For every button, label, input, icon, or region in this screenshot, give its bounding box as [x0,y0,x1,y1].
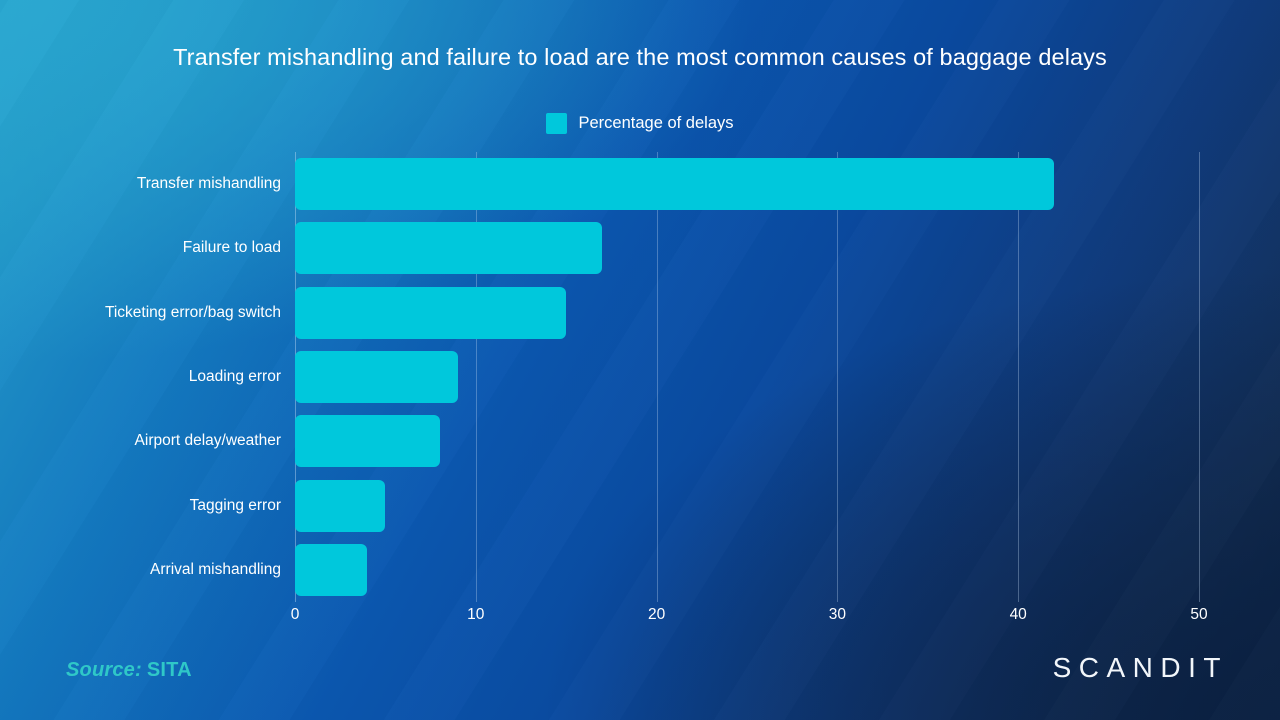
bar-row [295,409,1199,473]
chart-legend: Percentage of delays [0,113,1280,134]
x-axis-tick-label: 30 [829,606,846,624]
y-axis-label: Arrival mishandling [0,538,281,602]
chart-title: Transfer mishandling and failure to load… [0,44,1280,71]
legend-label: Percentage of delays [578,114,733,133]
source-value: SITA [147,659,192,681]
y-axis-label: Airport delay/weather [0,409,281,473]
bar[interactable] [295,287,566,339]
x-axis-tick-label: 0 [291,606,300,624]
plot-area [295,152,1199,602]
y-axis-label: Ticketing error/bag switch [0,281,281,345]
y-axis-category-labels: Transfer mishandlingFailure to loadTicke… [0,152,281,602]
x-axis-tick-labels: 01020304050 [295,606,1199,630]
bar-row [295,538,1199,602]
bar-series [295,152,1199,602]
gridline [1199,152,1200,602]
legend-color-swatch [546,113,567,134]
bar[interactable] [295,480,385,532]
bar-row [295,345,1199,409]
x-axis-tick-label: 40 [1010,606,1027,624]
bar[interactable] [295,158,1054,210]
bar-row [295,216,1199,280]
bar-row [295,152,1199,216]
x-axis-tick-label: 10 [467,606,484,624]
bar[interactable] [295,222,602,274]
bar[interactable] [295,544,367,596]
y-axis-label: Tagging error [0,473,281,537]
bar-row [295,473,1199,537]
y-axis-label: Loading error [0,345,281,409]
source-credit: Source:SITA [66,659,192,682]
y-axis-label: Transfer mishandling [0,152,281,216]
source-label: Source: [66,659,142,681]
y-axis-label: Failure to load [0,216,281,280]
bar-row [295,281,1199,345]
x-axis-tick-label: 20 [648,606,665,624]
scandit-logo-wordmark: SCANDIT [1053,652,1228,684]
bar[interactable] [295,415,440,467]
x-axis-tick-label: 50 [1190,606,1207,624]
bar[interactable] [295,351,458,403]
